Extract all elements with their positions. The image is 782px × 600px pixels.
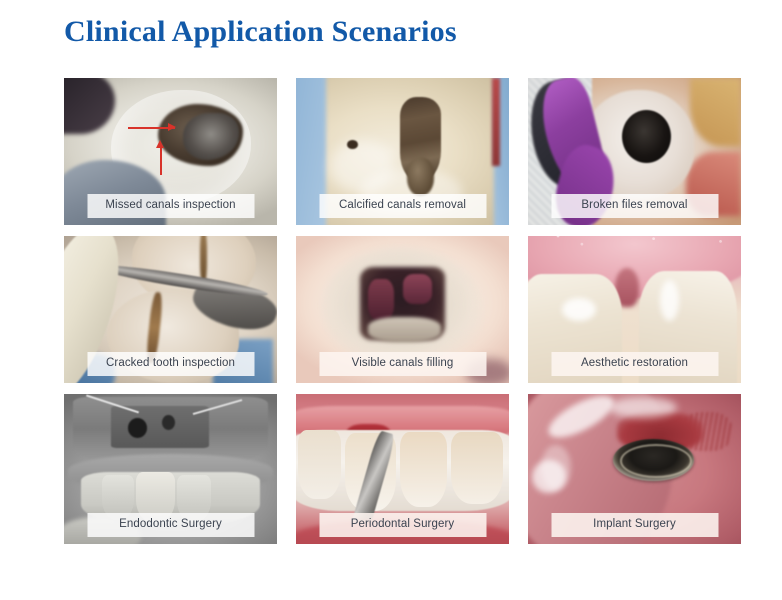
gallery-tile-calcified-canals-removal[interactable]: Calcified canals removal	[296, 78, 509, 225]
tile-caption: Periodontal Surgery	[319, 513, 486, 537]
photo-shape	[368, 317, 440, 342]
photo-shape	[407, 157, 435, 195]
gallery-tile-visible-canals-filling[interactable]: Visible canals filling	[296, 236, 509, 383]
photo-shape	[609, 397, 677, 418]
photo-shape	[403, 274, 433, 303]
gallery-tile-cracked-tooth-inspection[interactable]: Cracked tooth inspection	[64, 236, 277, 383]
tile-caption: Cracked tooth inspection	[87, 352, 254, 376]
photo-shape	[400, 432, 447, 507]
gallery-tile-missed-canals-inspection[interactable]: Missed canals inspection	[64, 78, 277, 225]
tile-caption: Visible canals filling	[319, 352, 486, 376]
photo-shape	[622, 110, 671, 163]
photo-shape	[368, 279, 394, 320]
tile-caption: Aesthetic restoration	[551, 352, 718, 376]
tile-caption: Implant Surgery	[551, 513, 718, 537]
photo-shape	[128, 418, 147, 438]
tile-caption: Missed canals inspection	[87, 194, 254, 218]
tile-caption: Endodontic Surgery	[87, 513, 254, 537]
photo-shape	[162, 415, 175, 430]
photo-shape	[347, 140, 358, 149]
gallery-tile-endodontic-surgery[interactable]: Endodontic Surgery	[64, 394, 277, 544]
photo-shape	[690, 78, 741, 146]
photo-shape	[451, 432, 502, 504]
gallery-tile-periodontal-surgery[interactable]: Periodontal Surgery	[296, 394, 509, 544]
photo-shape	[620, 444, 692, 478]
photo-shape	[64, 78, 115, 134]
gallery-tile-implant-surgery[interactable]: Implant Surgery	[528, 394, 741, 544]
photo-shape	[200, 236, 206, 283]
photo-shape	[298, 430, 341, 499]
gallery-tile-aesthetic-restoration[interactable]: Aesthetic restoration	[528, 236, 741, 383]
tile-caption: Broken files removal	[551, 194, 718, 218]
gallery-tile-broken-files-removal[interactable]: Broken files removal	[528, 78, 741, 225]
red-arrow-vertical-icon	[160, 147, 162, 175]
clinical-scenario-gallery: Missed canals inspection Calcified canal…	[64, 78, 742, 544]
page-title: Clinical Application Scenarios	[64, 12, 457, 52]
photo-shape	[492, 78, 501, 166]
photo-shape	[541, 445, 571, 490]
red-arrow-horizontal-icon	[128, 127, 175, 129]
tile-caption: Calcified canals removal	[319, 194, 486, 218]
